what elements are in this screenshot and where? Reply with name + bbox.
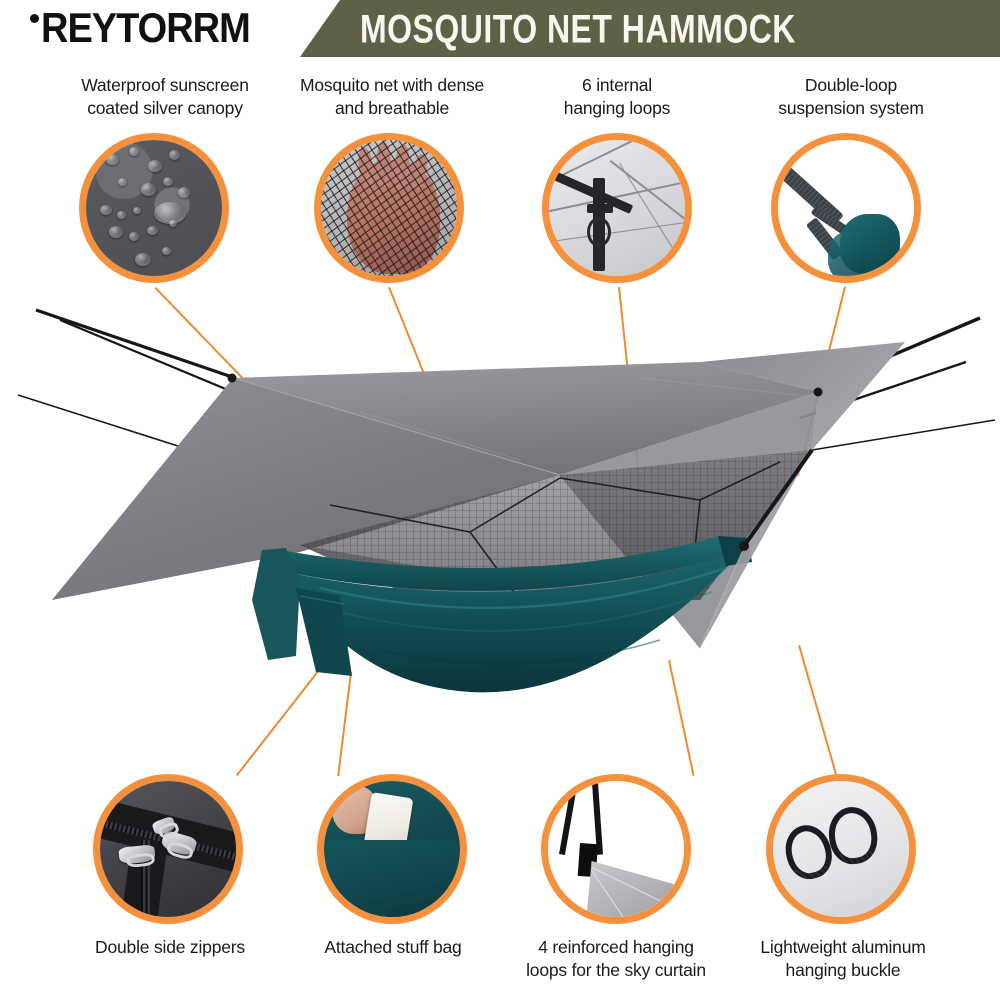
- double-zipper-pulls-photo: [93, 774, 243, 924]
- title-banner: MOSQUITO NET HAMMOCK: [300, 0, 1000, 57]
- callout-double-side-zippers[interactable]: [93, 774, 243, 924]
- caption-double-side-zippers: Double side zippers: [50, 936, 290, 959]
- caption-double-loop-suspension: Double-loop suspension system: [737, 74, 965, 120]
- product-illustration: [0, 300, 1000, 720]
- aluminum-carabiner-pair-photo: [766, 774, 916, 924]
- caption-internal-loops: 6 internal hanging loops: [510, 74, 724, 120]
- banner-title: MOSQUITO NET HAMMOCK: [360, 5, 796, 51]
- callout-attached-stuff-bag[interactable]: [317, 774, 467, 924]
- callout-aluminum-hanging-buckle[interactable]: [766, 774, 916, 924]
- hand-behind-mesh-net-photo: [314, 133, 464, 283]
- water-droplets-on-coated-fabric-photo: [79, 133, 229, 283]
- mesh-overlay: [314, 133, 464, 283]
- tarp-corner-guyline-photo: [541, 774, 691, 924]
- callout-mosquito-net[interactable]: [314, 133, 464, 283]
- callout-double-loop-suspension[interactable]: [771, 133, 921, 283]
- header: MOSQUITO NET HAMMOCK REYTORRM: [0, 0, 1000, 62]
- callout-reinforced-hanging-loops[interactable]: [541, 774, 691, 924]
- stuff-bag-with-phone-photo: [317, 774, 467, 924]
- caption-aluminum-hanging-buckle: Lightweight aluminum hanging buckle: [727, 936, 959, 982]
- webbing-suspension-strap-photo: [771, 133, 921, 283]
- brand-logo: REYTORRM: [30, 8, 250, 50]
- caption-waterproof-canopy: Waterproof sunscreen coated silver canop…: [45, 74, 285, 120]
- brand-logo-text: REYTORRM: [41, 5, 250, 52]
- caption-attached-stuff-bag: Attached stuff bag: [278, 936, 508, 959]
- callout-waterproof-canopy[interactable]: [79, 133, 229, 283]
- callout-internal-loops[interactable]: [542, 133, 692, 283]
- infographic-canvas: MOSQUITO NET HAMMOCK REYTORRM Waterproof…: [0, 0, 1000, 1000]
- logo-dot-icon: [30, 14, 39, 23]
- bag-front-panel: [326, 840, 458, 924]
- internal-hanging-loop-photo: [542, 133, 692, 283]
- caption-mosquito-net: Mosquito net with dense and breathable: [272, 74, 512, 120]
- caption-reinforced-hanging-loops: 4 reinforced hanging loops for the sky c…: [500, 936, 732, 982]
